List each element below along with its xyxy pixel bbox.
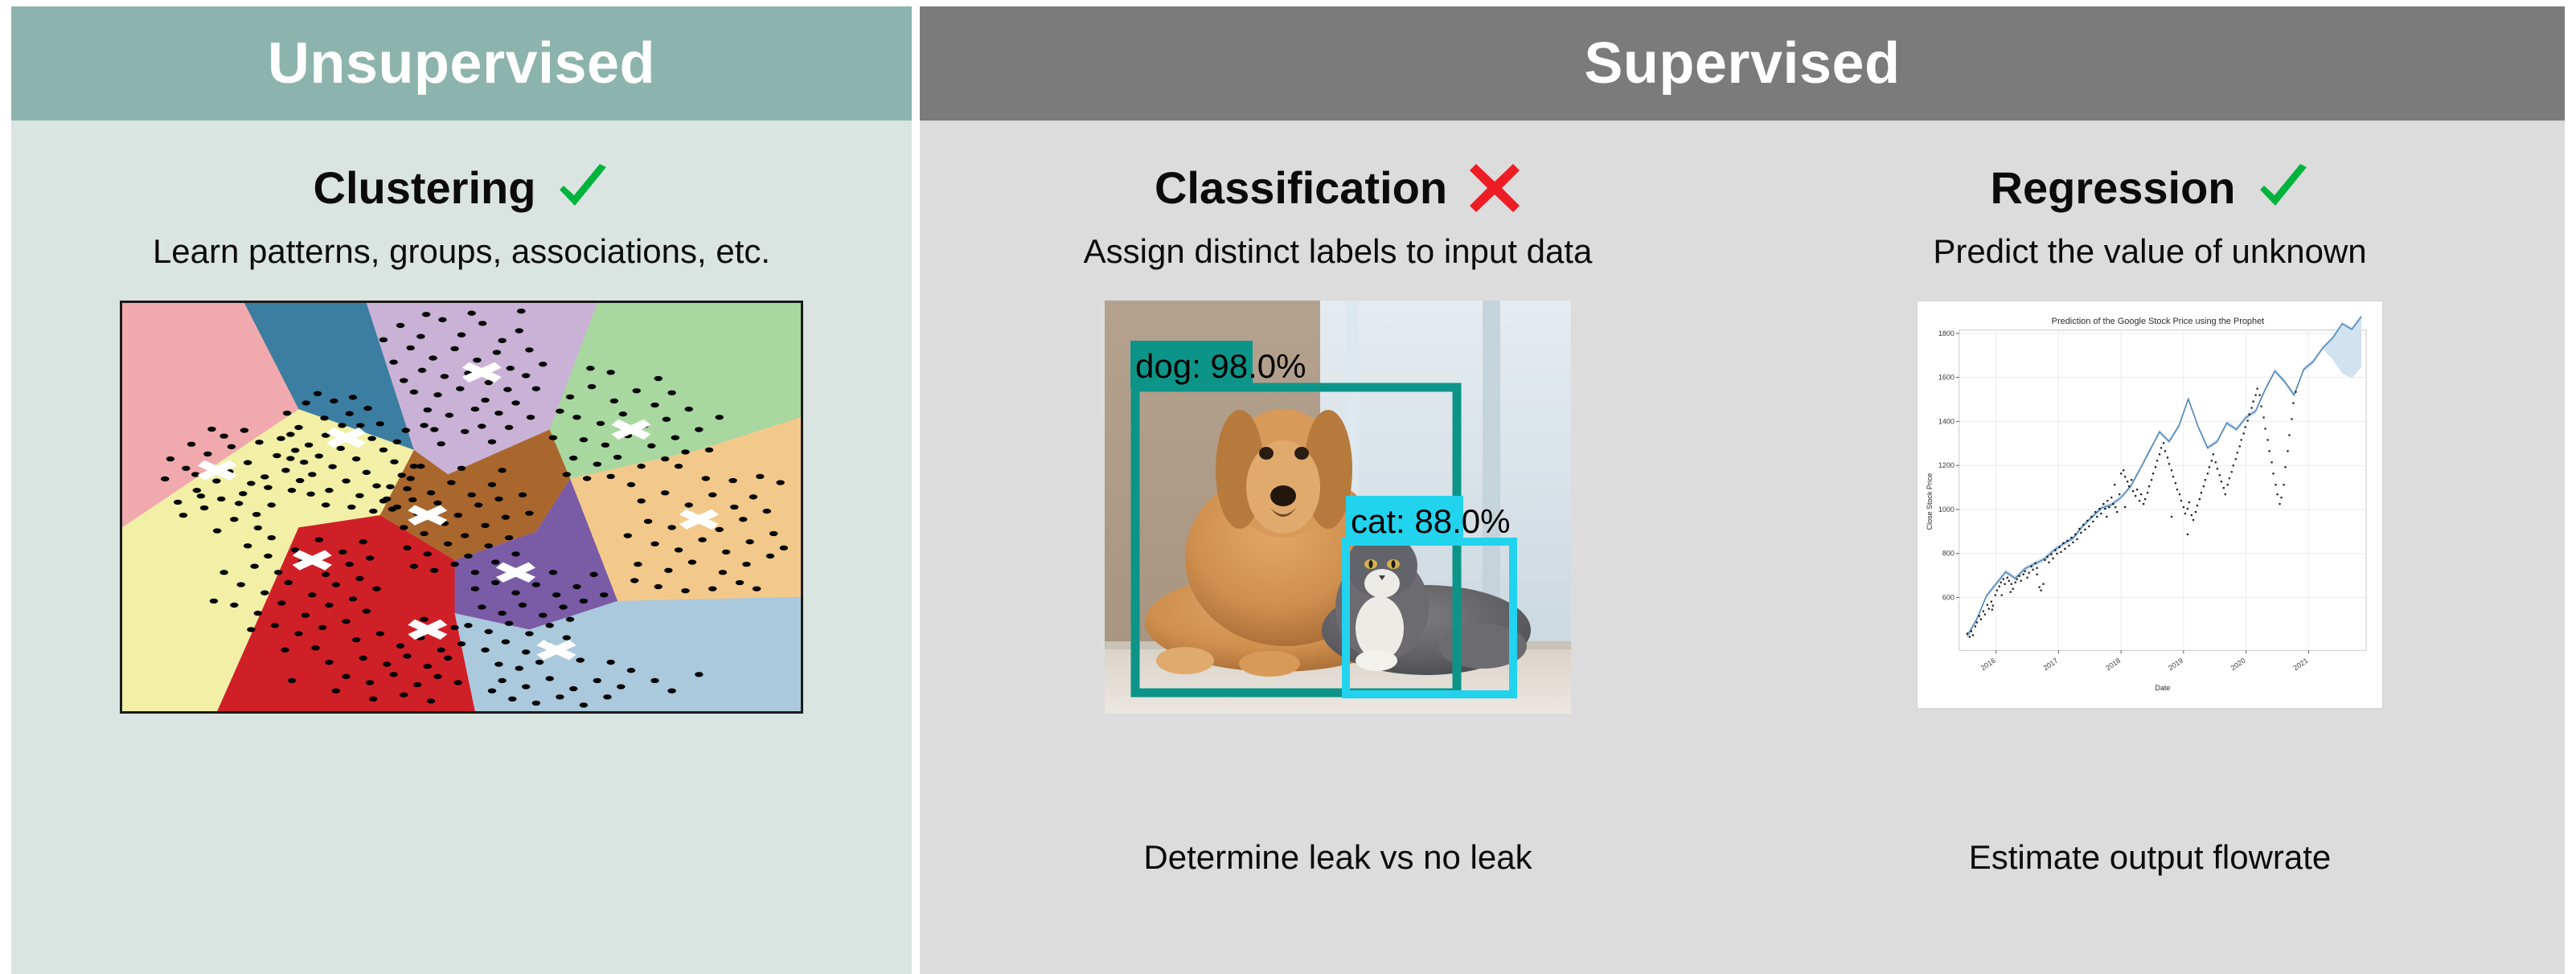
clustering-subtitle: Learn patterns, groups, associations, et… xyxy=(153,235,770,268)
y-tick-1600: 1600 xyxy=(1938,374,1955,382)
classification-subtitle: Assign distinct labels to input data xyxy=(1084,235,1593,268)
regression-figure: Prediction of the Google Stock Price usi… xyxy=(1917,301,2383,709)
header-unsupervised-title: Unsupervised xyxy=(268,35,655,92)
check-icon xyxy=(2257,162,2310,214)
card-clustering: Clustering Learn patterns, groups, assoc… xyxy=(11,121,912,714)
card-classification: Classification Assign distinct labels to… xyxy=(936,121,1740,714)
card-regression: Regression Predict the value of unknown … xyxy=(1748,121,2552,709)
check-icon xyxy=(556,162,609,214)
header-supervised-title: Supervised xyxy=(1584,35,1900,92)
column-supervised: Supervised Classification Assign distinc… xyxy=(920,6,2565,974)
clustering-voronoi-svg xyxy=(122,303,801,711)
regression-caption: Estimate output flowrate xyxy=(1748,841,2552,874)
header-unsupervised: Unsupervised xyxy=(11,6,912,121)
classification-title: Classification xyxy=(1155,166,1447,211)
regression-chart-svg: Prediction of the Google Stock Price usi… xyxy=(1918,301,2382,708)
chart-ylabel: Close Stock Price xyxy=(1926,473,1934,530)
y-tick-600: 600 xyxy=(1942,594,1955,602)
classification-photo-svg: dog: 98.0% cat: 88.0% xyxy=(1105,301,1571,714)
cat-box-label: cat: 88.0% xyxy=(1351,502,1510,540)
chart-title: Prediction of the Google Stock Price usi… xyxy=(2052,317,2265,326)
column-unsupervised: Unsupervised Clustering Learn patterns, … xyxy=(11,6,912,974)
cross-icon xyxy=(1468,162,1521,214)
y-tick-1000: 1000 xyxy=(1938,505,1955,514)
voronoi-regions xyxy=(122,303,801,711)
clustering-title: Clustering xyxy=(314,166,536,211)
clustering-title-row: Clustering xyxy=(314,162,610,214)
header-supervised: Supervised xyxy=(920,6,2565,121)
regression-title-row: Regression xyxy=(1991,162,2310,214)
classification-caption: Determine leak vs no leak xyxy=(936,841,1740,874)
classification-figure: dog: 98.0% cat: 88.0% xyxy=(1105,301,1571,714)
classification-title-row: Classification xyxy=(1155,162,1521,214)
y-tick-1400: 1400 xyxy=(1938,417,1955,425)
y-tick-1800: 1800 xyxy=(1938,329,1955,338)
y-tick-800: 800 xyxy=(1942,550,1955,558)
regression-title: Regression xyxy=(1991,166,2236,211)
clustering-figure xyxy=(120,301,803,714)
chart-xlabel: Date xyxy=(2155,684,2170,692)
infographic-root: Unsupervised Clustering Learn patterns, … xyxy=(0,0,2576,974)
regression-subtitle: Predict the value of unknown xyxy=(1933,235,2366,268)
y-tick-1200: 1200 xyxy=(1938,461,1955,469)
dog-box-label: dog: 98.0% xyxy=(1135,347,1306,385)
